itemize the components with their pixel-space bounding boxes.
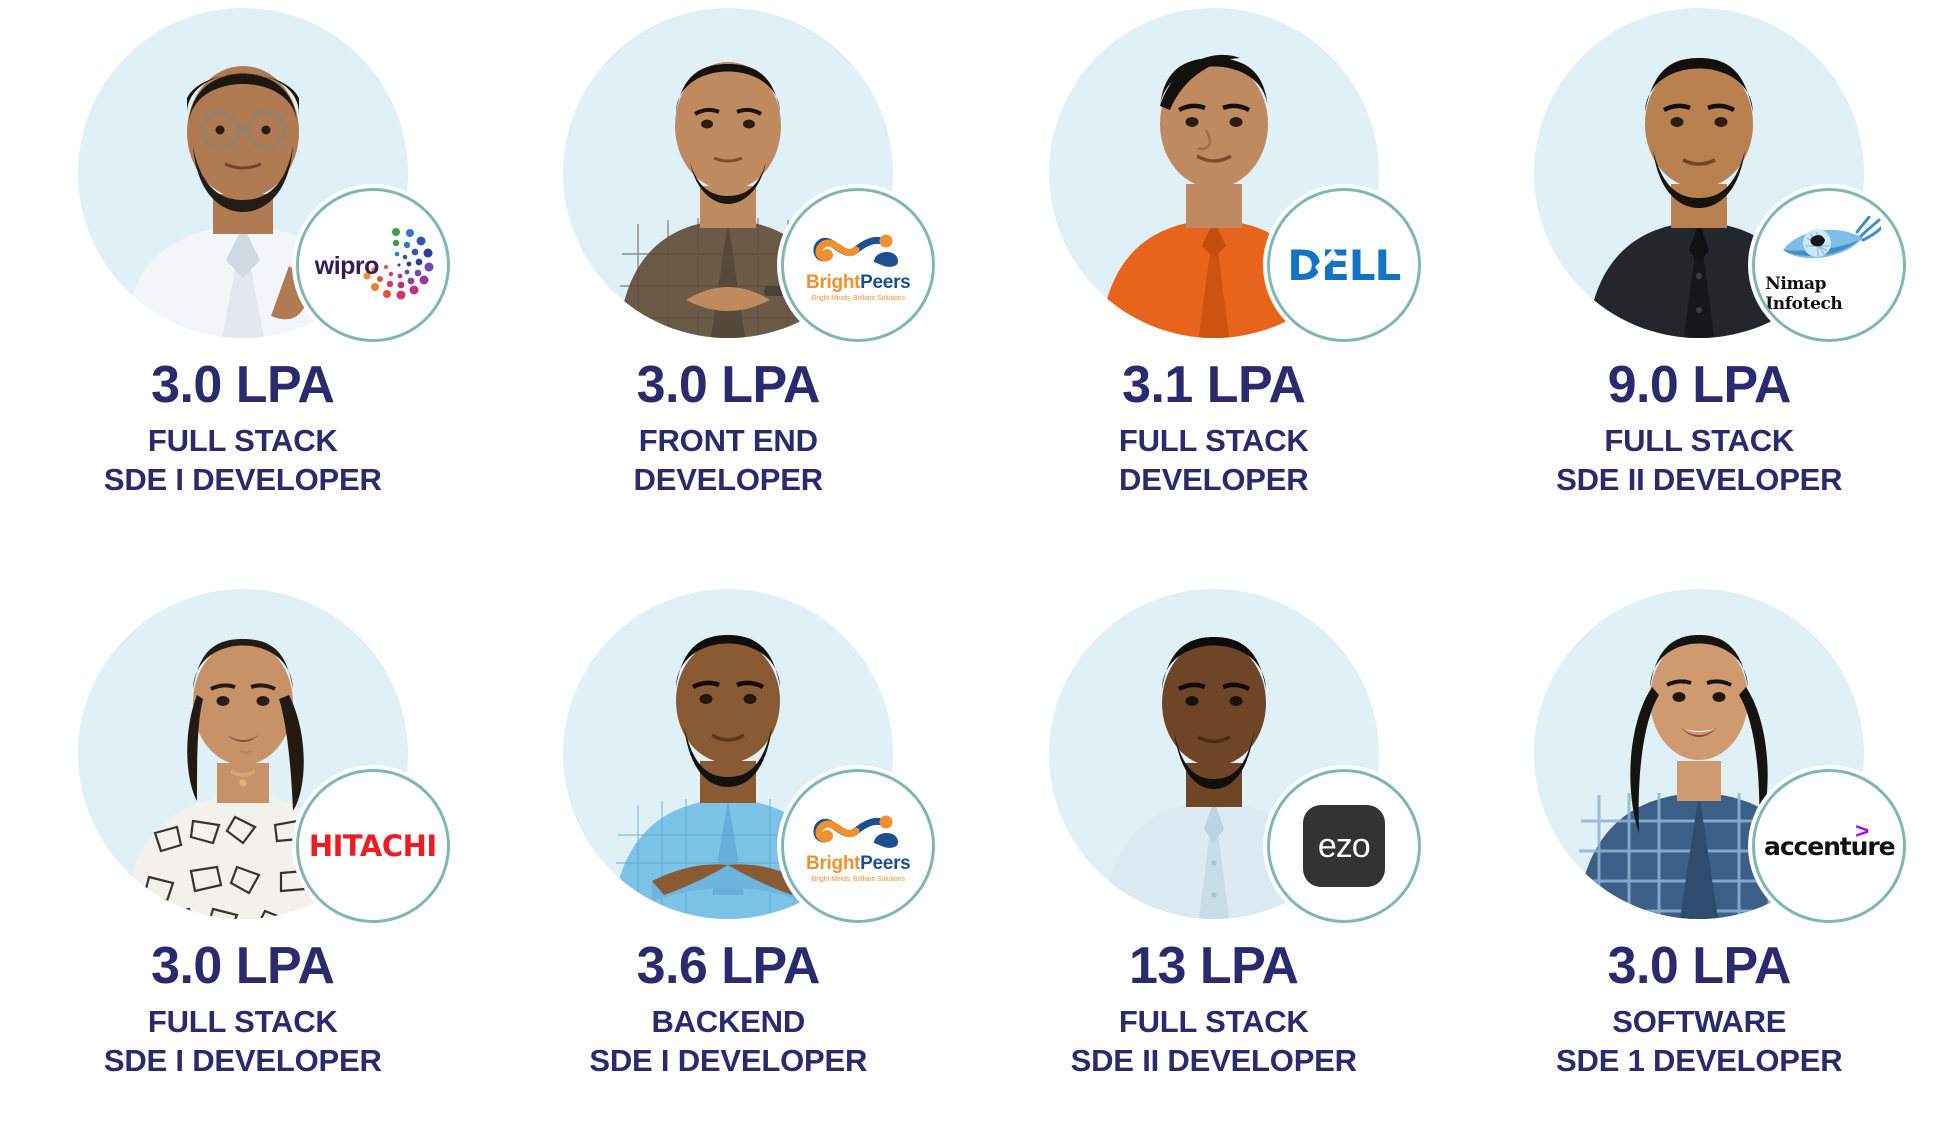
brightpeers-word-bright: Bright [806, 853, 860, 874]
wipro-wordmark: wipro [315, 252, 379, 281]
hitachi-logo: HITACHI [309, 829, 437, 863]
photo-stage: accenture > [1534, 589, 1864, 919]
brightpeers-logo: BrightPeers Bright Minds, Brilliant Solu… [796, 809, 920, 883]
company-logo-badge: accenture > [1752, 769, 1906, 923]
company-logo-badge: Nimap Infotech [1752, 188, 1906, 342]
brightpeers-wordmark: BrightPeers [806, 854, 910, 873]
card-text: 3.0 LPA FULL STACK SDE I DEVELOPER [0, 358, 486, 500]
accenture-logo: accenture > [1763, 832, 1895, 861]
nimap-infotech-logo: Nimap Infotech [1765, 216, 1893, 314]
role-line-1: FULL STACK [6, 421, 480, 461]
photo-stage: HITACHI [78, 589, 408, 919]
salary-amount: 3.1 LPA [977, 358, 1451, 413]
company-logo-badge: BrightPeers Bright Minds, Brilliant Solu… [781, 188, 935, 342]
role-line-2: DEVELOPER [492, 460, 966, 500]
brightpeers-word-peers: Peers [860, 853, 910, 874]
nimap-wordmark: Nimap Infotech [1765, 274, 1893, 314]
card-text: 3.0 LPA FULL STACK SDE I DEVELOPER [0, 939, 486, 1081]
wipro-logo: wipro [313, 222, 433, 308]
photo-stage: BrightPeers Bright Minds, Brilliant Solu… [563, 589, 893, 919]
company-logo-badge: wipro [296, 188, 450, 342]
dell-logo: DELL [1287, 241, 1400, 290]
role-line-1: BACKEND [492, 1002, 966, 1042]
accenture-caret-icon: > [1855, 820, 1869, 844]
nimap-eye-icon [1777, 216, 1881, 272]
photo-stage: Nimap Infotech [1534, 8, 1864, 338]
photo-stage: DELL [1049, 8, 1379, 338]
card-text: 3.1 LPA FULL STACK DEVELOPER [971, 358, 1457, 500]
company-logo-badge: BrightPeers Bright Minds, Brilliant Solu… [781, 769, 935, 923]
role-line-1: FRONT END [492, 421, 966, 461]
ezo-logo: ezo [1303, 805, 1385, 887]
role-line-1: FULL STACK [6, 1002, 480, 1042]
role-line-1: FULL STACK [1463, 421, 1937, 461]
role-line-2: SDE I DEVELOPER [492, 1041, 966, 1081]
role-line-2: SDE 1 DEVELOPER [1463, 1041, 1937, 1081]
placement-card-dell[interactable]: DELL 3.1 LPA FULL STACK DEVELOPER [971, 0, 1457, 567]
photo-stage: wipro [78, 8, 408, 338]
card-text: 9.0 LPA FULL STACK SDE II DEVELOPER [1457, 358, 1942, 500]
brightpeers-tagline: Bright Minds, Brilliant Solutions [812, 876, 905, 883]
salary-amount: 3.6 LPA [492, 939, 966, 994]
company-logo-badge: ezo [1267, 769, 1421, 923]
dell-slash-icon [1313, 245, 1339, 279]
card-text: 13 LPA FULL STACK SDE II DEVELOPER [971, 939, 1457, 1081]
placement-card-ezo[interactable]: ezo 13 LPA FULL STACK SDE II DEVELOPER [971, 567, 1457, 1134]
brightpeers-logo: BrightPeers Bright Minds, Brilliant Solu… [796, 228, 920, 302]
role-line-1: FULL STACK [977, 421, 1451, 461]
salary-amount: 3.0 LPA [6, 358, 480, 413]
brightpeers-word-bright: Bright [806, 272, 860, 293]
placement-card-grid: wipro 3.0 LPA FULL STACK SDE I DEVELOPER [0, 0, 1942, 1134]
accenture-wordmark: accenture [1764, 832, 1894, 861]
photo-stage: ezo [1049, 589, 1379, 919]
ezo-wordmark: ezo [1318, 827, 1370, 866]
brightpeers-word-peers: Peers [860, 272, 910, 293]
dell-wordmark: DELL [1287, 241, 1400, 290]
company-logo-badge: HITACHI [296, 769, 450, 923]
placement-card-brightpeers-front-end[interactable]: BrightPeers Bright Minds, Brilliant Solu… [486, 0, 972, 567]
role-line-2: DEVELOPER [977, 460, 1451, 500]
photo-stage: BrightPeers Bright Minds, Brilliant Solu… [563, 8, 893, 338]
role-line-1: SOFTWARE [1463, 1002, 1937, 1042]
salary-amount: 3.0 LPA [492, 358, 966, 413]
role-line-2: SDE I DEVELOPER [6, 1041, 480, 1081]
placement-card-brightpeers-backend[interactable]: BrightPeers Bright Minds, Brilliant Solu… [486, 567, 972, 1134]
card-text: 3.6 LPA BACKEND SDE I DEVELOPER [486, 939, 972, 1081]
brightpeers-wordmark: BrightPeers [806, 273, 910, 292]
company-logo-badge: DELL [1267, 188, 1421, 342]
placement-card-accenture[interactable]: accenture > 3.0 LPA SOFTWARE SDE 1 DEVEL… [1457, 567, 1942, 1134]
role-line-2: SDE II DEVELOPER [1463, 460, 1937, 500]
card-text: 3.0 LPA SOFTWARE SDE 1 DEVELOPER [1457, 939, 1942, 1081]
role-line-2: SDE I DEVELOPER [6, 460, 480, 500]
brightpeers-tagline: Bright Minds, Brilliant Solutions [812, 295, 905, 302]
placement-card-wipro[interactable]: wipro 3.0 LPA FULL STACK SDE I DEVELOPER [0, 0, 486, 567]
salary-amount: 3.0 LPA [1463, 939, 1937, 994]
placement-card-hitachi[interactable]: HITACHI 3.0 LPA FULL STACK SDE I DEVELOP… [0, 567, 486, 1134]
salary-amount: 13 LPA [977, 939, 1451, 994]
placement-highlights-board: wipro 3.0 LPA FULL STACK SDE I DEVELOPER [0, 0, 1942, 1134]
role-line-1: FULL STACK [977, 1002, 1451, 1042]
placement-card-nimap[interactable]: Nimap Infotech 9.0 LPA FULL STACK SDE II… [1457, 0, 1942, 567]
card-text: 3.0 LPA FRONT END DEVELOPER [486, 358, 972, 500]
salary-amount: 9.0 LPA [1463, 358, 1937, 413]
role-line-2: SDE II DEVELOPER [977, 1041, 1451, 1081]
salary-amount: 3.0 LPA [6, 939, 480, 994]
